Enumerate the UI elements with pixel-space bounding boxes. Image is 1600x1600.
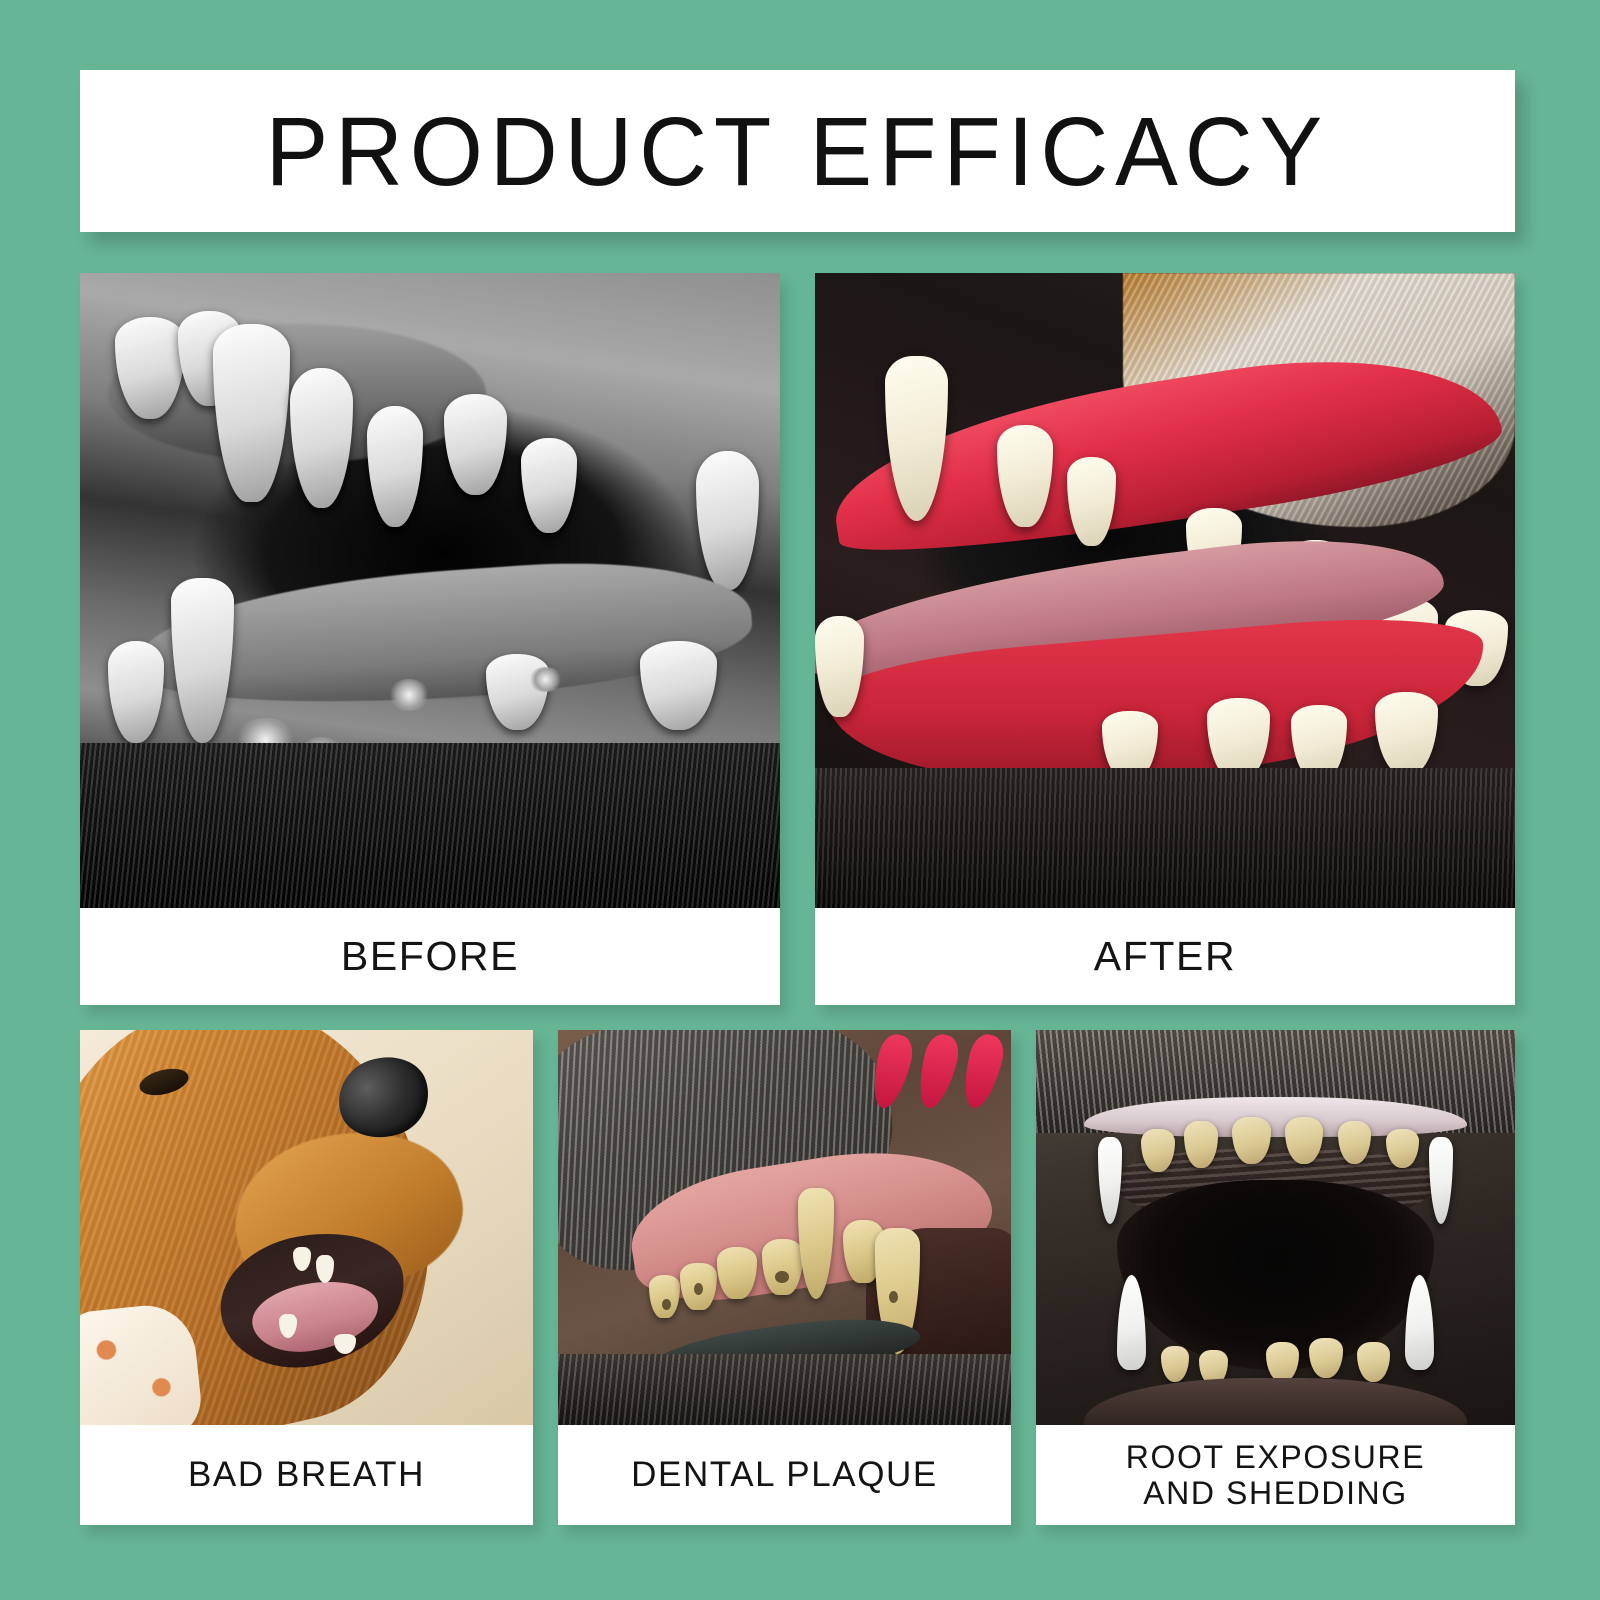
bad-breath-caption: BAD BREATH <box>80 1425 533 1525</box>
fingernails <box>875 1034 1002 1109</box>
dog-teeth-grayscale-diseased-photo <box>80 273 780 908</box>
product-efficacy-poster: PRODUCT EFFICACY BEFORE <box>0 0 1600 1600</box>
page-title: PRODUCT EFFICACY <box>266 103 1330 200</box>
dog-teeth-color-healthy-photo <box>815 273 1515 908</box>
root-exposure-caption-line1: ROOT EXPOSURE <box>1126 1439 1425 1475</box>
after-card: AFTER <box>815 273 1515 1005</box>
golden-retriever-yawning-photo <box>80 1030 533 1425</box>
after-caption: AFTER <box>815 908 1515 1005</box>
dental-plaque-caption: DENTAL PLAQUE <box>558 1425 1011 1525</box>
title-band: PRODUCT EFFICACY <box>80 70 1515 232</box>
dog-open-mouth-root-exposure-photo <box>1036 1030 1515 1425</box>
dog-yellow-tartar-teeth-photo <box>558 1030 1011 1425</box>
bad-breath-card: BAD BREATH <box>80 1030 533 1525</box>
dental-plaque-card: DENTAL PLAQUE <box>558 1030 1011 1525</box>
root-exposure-caption-line2: AND SHEDDING <box>1143 1475 1408 1511</box>
before-card: BEFORE <box>80 273 780 1005</box>
root-exposure-card: ROOT EXPOSURE AND SHEDDING <box>1036 1030 1515 1525</box>
before-caption: BEFORE <box>80 908 780 1005</box>
root-exposure-caption: ROOT EXPOSURE AND SHEDDING <box>1036 1425 1515 1525</box>
